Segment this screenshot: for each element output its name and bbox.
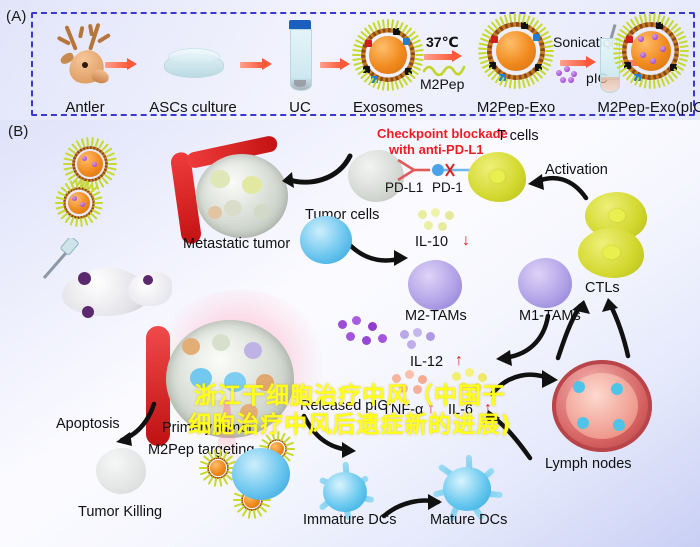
label-pd-l1: PD-L1 — [385, 180, 423, 195]
m2pep-peptide-icon — [422, 62, 468, 76]
panel-b: (B) — [0, 120, 700, 547]
exosome-spike — [680, 50, 689, 52]
exosome-spike — [80, 218, 83, 227]
free-exosome-icon — [70, 144, 110, 184]
arrow-il12-to-lymph — [470, 312, 554, 368]
exosome-spike — [514, 80, 516, 89]
exosome-spike — [415, 54, 424, 56]
label-primary-tumor: Primary tumor — [162, 420, 253, 436]
exosome-spike — [504, 14, 509, 23]
exosome-spike — [478, 52, 487, 55]
t-cell — [468, 152, 526, 202]
il-10-down-arrow: ↓ — [462, 232, 470, 250]
exosome-spike — [91, 137, 94, 146]
arrow-to-immature-dcs — [300, 412, 360, 460]
released-pic-molecules — [338, 316, 394, 350]
label-il-10: IL-10 — [415, 234, 448, 250]
label-lymph-nodes: Lymph nodes — [545, 456, 632, 472]
label-m2pep-targeting: M2Pep targeting — [148, 442, 254, 458]
exosome-icon — [359, 26, 417, 84]
exosome-spike — [81, 138, 86, 147]
exosome-spike — [615, 38, 624, 43]
label-apoptosis: Apoptosis — [56, 416, 120, 432]
exosome-spike — [639, 14, 644, 23]
label-ctls: CTLs — [585, 280, 620, 296]
exosome-spike — [248, 510, 252, 519]
m2-tam-cell — [408, 260, 462, 310]
exosome-spike — [214, 478, 218, 487]
panel-a-tag: (A) — [6, 8, 27, 25]
stage-caption-antler: Antler — [65, 99, 104, 116]
exosome-spike — [415, 49, 424, 52]
label-metastatic-tumor: Metastatic tumor — [183, 236, 290, 252]
exosome-spike — [63, 157, 72, 161]
label-m2pep: M2Pep — [420, 76, 464, 92]
petri-dish-icon — [162, 46, 224, 82]
targeting-exosome-icon — [206, 456, 230, 480]
exosome-spike — [613, 52, 622, 55]
stage-exosomes: Exosomes — [352, 18, 424, 114]
tnf-up-arrow: ↑ — [427, 400, 435, 418]
metastatic-tumor-mass — [196, 154, 288, 238]
exosome-spike — [480, 38, 489, 43]
ctl-cell — [578, 228, 644, 278]
exosome-spike — [352, 54, 361, 56]
exosome-spike — [514, 13, 516, 22]
exosome-spike — [478, 47, 487, 50]
arrow-uc-to-exosomes — [320, 60, 350, 69]
exosome-spike — [387, 19, 389, 28]
label-tnf-alpha: TNF-α — [382, 402, 423, 418]
targeted-macrophage — [232, 448, 290, 500]
exosome-spike — [199, 467, 208, 469]
tnf-alpha-molecules — [392, 370, 440, 398]
pic-cluster-icon — [556, 66, 582, 84]
label-checkpoint-line2: with anti-PD-L1 — [389, 142, 484, 157]
stage-m2pep-exo-pic: M2Pep-Exo(pIC) — [598, 14, 700, 114]
exosome-spike — [545, 54, 554, 57]
exosome-spike — [377, 20, 381, 29]
exosome-spike — [643, 13, 646, 22]
exosome-spike — [649, 13, 651, 22]
m2pep-exosome-pic-icon — [620, 20, 682, 82]
exosome-spike — [679, 54, 688, 57]
stage-ascs-culture: ASCs culture — [138, 22, 248, 114]
exosome-spike — [522, 79, 526, 88]
exosome-spike — [352, 49, 361, 52]
exosome-spike — [479, 42, 488, 46]
exosome-spike — [387, 82, 389, 91]
exosome-spike — [509, 13, 512, 22]
m2pep-exosome-icon — [485, 20, 547, 82]
exosome-spike — [55, 202, 64, 204]
label-temperature: 37℃ — [426, 34, 459, 51]
tumor-spot — [78, 272, 91, 285]
arrow-dc-to-ctls — [552, 300, 600, 362]
arrow-activation — [520, 168, 590, 208]
exosome-spike — [679, 40, 688, 44]
exosome-spike — [382, 19, 385, 28]
label-checkpoint-line1: Checkpoint blockade — [377, 126, 508, 141]
exosome-spike — [94, 202, 103, 204]
exosome-spike — [70, 217, 75, 226]
label-tumor-killing: Tumor Killing — [78, 504, 162, 520]
exosome-spike — [75, 218, 78, 227]
stage-caption-m2pep-exo: M2Pep-Exo — [477, 99, 555, 116]
exosome-spike — [233, 499, 242, 501]
tumor-spot — [143, 275, 153, 285]
exosome-spike — [415, 58, 424, 61]
exosome-spike — [653, 13, 656, 22]
label-mature-dcs: Mature DCs — [430, 512, 507, 528]
lymph-node — [552, 360, 652, 452]
exosome-spike — [286, 448, 295, 450]
arrow-lymph-to-ctls — [600, 298, 644, 360]
exosome-spike — [219, 478, 223, 487]
exosome-spike — [545, 50, 554, 52]
exosome-spike — [643, 79, 646, 88]
panel-a: (A) Antler — [0, 0, 700, 120]
exosome-spike — [518, 80, 521, 89]
stage-caption-ascs: ASCs culture — [149, 99, 237, 116]
exosome-spike — [509, 79, 512, 88]
label-m2-tams: M2-TAMs — [405, 308, 467, 324]
exosome-spike — [107, 167, 116, 171]
exosome-spike — [93, 196, 102, 200]
exosome-spike — [613, 47, 622, 50]
arrow-culture-to-uc — [240, 60, 272, 69]
arrow-antler-to-culture — [105, 60, 137, 69]
label-il-6: IL-6 — [448, 402, 473, 418]
exosome-spike — [649, 80, 651, 89]
stage-caption-uc: UC — [289, 99, 311, 116]
exosome-spike — [208, 476, 214, 485]
arrow-to-metastatic-tumor — [280, 150, 354, 194]
figure-root: (A) Antler — [0, 0, 700, 547]
exosome-spike — [108, 163, 117, 165]
exosome-spike — [657, 79, 661, 88]
exosome-spike — [613, 42, 622, 46]
exosome-spike — [391, 82, 394, 91]
m2-tam-cell — [300, 216, 352, 264]
label-t-cells: T cells — [497, 128, 539, 144]
exosome-spike — [352, 58, 361, 61]
stage-m2pep-exo: M2Pep-Exo — [468, 14, 564, 114]
stage-caption-m2pep-exo-pic: M2Pep-Exo(pIC) — [597, 99, 700, 116]
exosome-spike — [107, 157, 116, 161]
exosome-spike — [518, 13, 521, 22]
centrifuge-tube-icon — [287, 20, 313, 90]
deer-icon — [54, 26, 116, 88]
exosome-spike — [93, 206, 102, 210]
exosome-spike — [242, 508, 248, 517]
exosome-spike — [285, 442, 294, 447]
exosome-spike — [382, 82, 385, 91]
exosome-spike — [679, 45, 688, 48]
exosome-spike — [544, 40, 553, 44]
arrow-apoptosis — [112, 402, 162, 448]
apoptotic-cell — [96, 448, 146, 494]
panel-b-tag: (B) — [8, 123, 29, 140]
label-il-12: IL-12 — [410, 354, 443, 370]
exosome-spike — [86, 137, 89, 146]
exosome-spike — [353, 44, 362, 48]
free-exosome-icon — [62, 186, 96, 220]
tumor-spot — [82, 306, 94, 318]
il-12-molecules — [400, 328, 446, 354]
exosome-spike — [253, 510, 257, 519]
exosome-spike — [414, 44, 423, 48]
stage-caption-exosomes: Exosomes — [353, 99, 423, 116]
exosome-spike — [63, 163, 72, 165]
arrow-exosomes-to-m2pep — [424, 52, 462, 61]
exosome-spike — [653, 80, 656, 89]
label-pd-1: PD-1 — [432, 180, 463, 195]
